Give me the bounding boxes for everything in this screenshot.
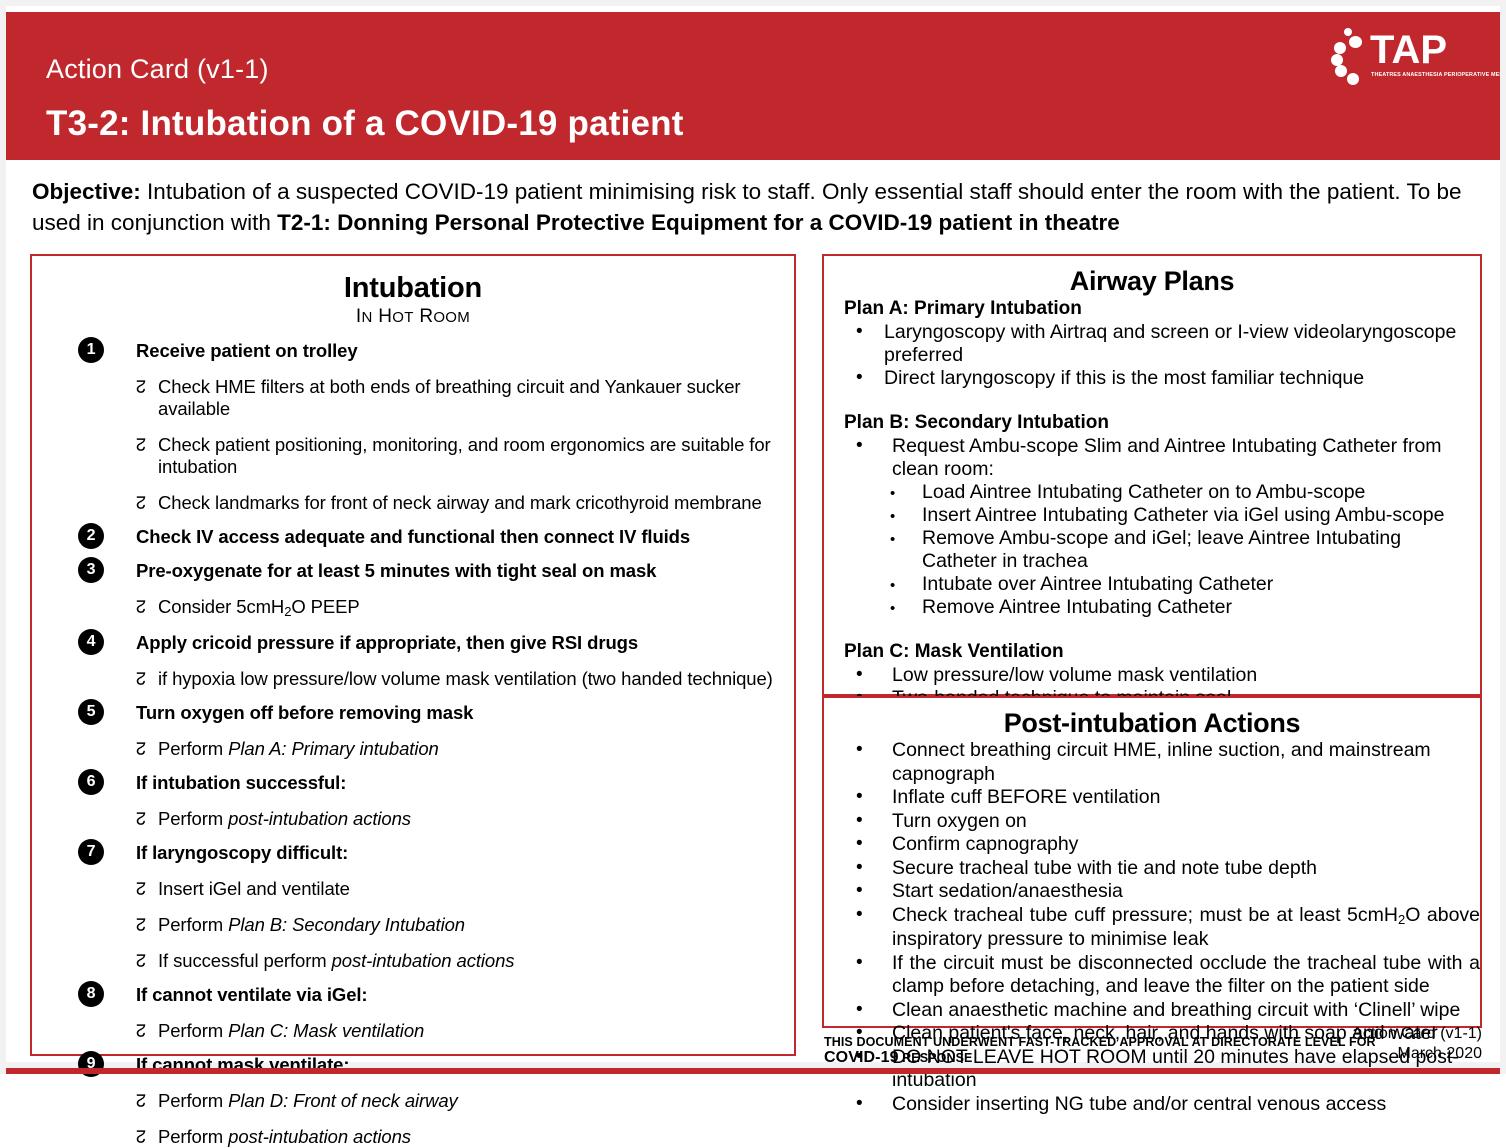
substep-marker-icon: ↊ (136, 434, 146, 456)
airway-plan-item: •Load Aintree Intubating Catheter on to … (844, 481, 1480, 504)
subtitle-smallcap: OOM (433, 309, 470, 326)
subtitle-cap: H (378, 306, 392, 327)
approval-text-suffix: RESPONSE (899, 1051, 973, 1065)
step-number-badge: 2 (78, 523, 104, 549)
substep-text: Perform post-intubation actions (136, 1126, 411, 1148)
airway-plan-heading: Plan B: Secondary Intubation (844, 411, 1480, 435)
intubation-substep: ↊Perform Plan B: Secondary Intubation (32, 914, 794, 936)
bottom-accent-bar (6, 1068, 1500, 1074)
post-intubation-item: •Secure tracheal tube with tie and note … (844, 857, 1480, 881)
intubation-substep: ↊If successful perform post-intubation a… (32, 950, 794, 972)
intubation-substep: ↊Check landmarks for front of neck airwa… (32, 492, 794, 514)
page-title: T3-2: Intubation of a COVID-19 patient (46, 104, 684, 144)
substep-marker-icon: ↊ (136, 1090, 146, 1112)
intubation-step: 4Apply cricoid pressure if appropriate, … (32, 632, 794, 654)
intubation-substep: ↊Consider 5cmH2O PEEP (32, 596, 794, 620)
substep-text: Perform post-intubation actions (136, 808, 411, 830)
intubation-step: 3Pre-oxygenate for at least 5 minutes wi… (32, 560, 794, 582)
tap-logo: TAP THEATRES ANAESTHESIA PERIOPERATIVE M… (1330, 26, 1470, 88)
substep-text: Consider 5cmH2O PEEP (136, 596, 360, 620)
post-intubation-item-text: Confirm capnography (892, 833, 1078, 855)
post-intubation-item-text: Consider inserting NG tube and/or centra… (892, 1093, 1386, 1115)
post-intubation-item: •Start sedation/anaesthesia (844, 880, 1480, 904)
objective-statement: Objective: Intubation of a suspected COV… (32, 176, 1482, 238)
document-sheet: Action Card (v1-1) T3-2: Intubation of a… (6, 6, 1500, 1062)
step-label: If intubation successful: (136, 772, 346, 793)
substep-marker-icon: ↊ (136, 738, 146, 760)
subtitle-smallcap: N (362, 309, 373, 326)
intubation-step: 8If cannot ventilate via iGel: (32, 984, 794, 1006)
substep-text: If successful perform post-intubation ac… (136, 950, 514, 972)
post-intubation-item-text: If the circuit must be disconnected occl… (892, 952, 1480, 999)
step-number-badge: 7 (78, 839, 104, 865)
post-intubation-item: •Connect breathing circuit HME, inline s… (844, 739, 1480, 786)
substep-marker-icon: ↊ (136, 1126, 146, 1148)
header-kicker: Action Card (v1-1) (46, 54, 269, 85)
post-intubation-item: •Check tracheal tube cuff pressure; must… (844, 904, 1480, 952)
step-number-badge: 8 (78, 981, 104, 1007)
bullet-icon: • (890, 574, 895, 597)
substep-text: Perform Plan C: Mask ventilation (136, 1020, 424, 1042)
step-label: Pre-oxygenate for at least 5 minutes wit… (136, 560, 656, 581)
airway-plan-heading: Plan A: Primary Intubation (844, 297, 1480, 321)
bullet-icon: • (890, 528, 895, 551)
post-intubation-item: •Inflate cuff BEFORE ventilation (844, 786, 1480, 810)
tap-logo-dots-icon (1330, 28, 1364, 86)
substep-text: Check patient positioning, monitoring, a… (136, 434, 794, 478)
step-label: Turn oxygen off before removing mask (136, 702, 473, 723)
post-intubation-item-text: Secure tracheal tube with tie and note t… (892, 857, 1317, 879)
bullet-icon: • (856, 320, 863, 343)
intubation-substep: ↊Perform post-intubation actions (32, 808, 794, 830)
intubation-substep: ↊Check patient positioning, monitoring, … (32, 434, 794, 478)
bullet-icon: • (856, 738, 863, 761)
bullet-icon: • (856, 434, 863, 457)
airway-plans-title: Airway Plans (824, 266, 1480, 297)
intubation-panel: Intubation IN HOT ROOM 1Receive patient … (30, 254, 796, 1056)
bullet-icon: • (856, 951, 863, 974)
airway-plan-item: •Low pressure/low volume mask ventilatio… (844, 664, 1480, 687)
airway-plan-item-text: Remove Ambu-scope and iGel; leave Aintre… (922, 527, 1401, 572)
airway-plan-item-text: Low pressure/low volume mask ventilation (892, 664, 1257, 686)
post-intubation-item: •Confirm capnography (844, 833, 1480, 857)
substep-text: Perform Plan D: Front of neck airway (136, 1090, 458, 1112)
substep-text: Insert iGel and ventilate (136, 878, 350, 900)
post-intubation-item-text: Clean anaesthetic machine and breathing … (892, 999, 1460, 1021)
airway-plan-item-text: Direct laryngoscopy if this is the most … (884, 367, 1364, 389)
bullet-icon: • (890, 505, 895, 528)
substep-marker-icon: ↊ (136, 596, 146, 618)
step-number-badge: 4 (78, 629, 104, 655)
tap-logo-tagline: THEATRES ANAESTHESIA PERIOPERATIVE MEDIC… (1371, 72, 1500, 78)
bullet-icon: • (856, 809, 863, 832)
substep-text: Perform Plan B: Secondary Intubation (136, 914, 465, 936)
substep-marker-icon: ↊ (136, 808, 146, 830)
bullet-icon: • (856, 1092, 863, 1115)
airway-plan-items: •Request Ambu-scope Slim and Aintree Int… (824, 435, 1480, 619)
intubation-step: 6If intubation successful: (32, 772, 794, 794)
substep-text: if hypoxia low pressure/low volume mask … (136, 668, 773, 690)
airway-plan-item: •Direct laryngoscopy if this is the most… (844, 367, 1480, 390)
post-intubation-item-text: Check tracheal tube cuff pressure; must … (892, 904, 1480, 952)
subtitle-cap: R (419, 306, 433, 327)
intubation-step: 7If laryngoscopy difficult: (32, 842, 794, 864)
airway-plan-item: •Intubate over Aintree Intubating Cathet… (844, 573, 1480, 596)
airway-plan-items: •Laryngoscopy with Airtraq and screen or… (824, 321, 1480, 390)
intubation-panel-title: Intubation (32, 272, 794, 305)
bullet-icon: • (890, 597, 895, 620)
intubation-step: 1Receive patient on trolley (32, 340, 794, 362)
substep-marker-icon: ↊ (136, 492, 146, 514)
step-number-badge: 5 (78, 699, 104, 725)
post-intubation-item-text: Turn oxygen on (892, 810, 1027, 832)
page-background: Action Card (v1-1) T3-2: Intubation of a… (0, 0, 1506, 1074)
intubation-step: 5Turn oxygen off before removing mask (32, 702, 794, 724)
post-intubation-item: •Clean anaesthetic machine and breathing… (844, 999, 1480, 1023)
intubation-substep: ↊Check HME filters at both ends of breat… (32, 376, 794, 420)
approval-covid-label: COVID-19 (824, 1049, 899, 1066)
substep-text: Perform Plan A: Primary intubation (136, 738, 439, 760)
bullet-icon: • (856, 879, 863, 902)
airway-plan-item-text: Request Ambu-scope Slim and Aintree Intu… (892, 435, 1442, 480)
intubation-substep: ↊Perform Plan A: Primary intubation (32, 738, 794, 760)
airway-plan-item-text: Intubate over Aintree Intubating Cathete… (922, 573, 1273, 595)
intubation-substep: ↊Perform Plan C: Mask ventilation (32, 1020, 794, 1042)
airway-plan-heading: Plan C: Mask Ventilation (844, 640, 1480, 664)
post-intubation-item: •Consider inserting NG tube and/or centr… (844, 1093, 1480, 1117)
substep-marker-icon: ↊ (136, 914, 146, 936)
bullet-icon: • (856, 903, 863, 926)
airway-plan-item: •Insert Aintree Intubating Catheter via … (844, 504, 1480, 527)
step-label: If cannot ventilate via iGel: (136, 984, 368, 1005)
substep-text: Check HME filters at both ends of breath… (136, 376, 794, 420)
step-label: If laryngoscopy difficult: (136, 842, 348, 863)
intubation-substep: ↊Insert iGel and ventilate (32, 878, 794, 900)
post-intubation-title: Post-intubation Actions (824, 708, 1480, 739)
intubation-step: 2Check IV access adequate and functional… (32, 526, 794, 548)
footer-card-info: Action Card (v1-1) March 2020 (1206, 1024, 1482, 1064)
post-intubation-item-text: Connect breathing circuit HME, inline su… (892, 739, 1431, 785)
substep-marker-icon: ↊ (136, 878, 146, 900)
step-number-badge: 3 (78, 557, 104, 583)
intubation-steps-list: 1Receive patient on trolley↊Check HME fi… (32, 340, 794, 1148)
airway-plans-panel: Airway Plans Plan A: Primary Intubation•… (822, 254, 1482, 696)
post-intubation-item-text: Inflate cuff BEFORE ventilation (892, 786, 1160, 808)
step-number-badge: 6 (78, 769, 104, 795)
step-label: Apply cricoid pressure if appropriate, t… (136, 632, 638, 653)
substep-text: Check landmarks for front of neck airway… (136, 492, 762, 514)
post-intubation-item-text: Start sedation/anaesthesia (892, 880, 1123, 902)
bullet-icon: • (856, 856, 863, 879)
subtitle-smallcap: OT (392, 309, 413, 326)
intubation-substep: ↊if hypoxia low pressure/low volume mask… (32, 668, 794, 690)
airway-plan-item-text: Laryngoscopy with Airtraq and screen or … (884, 321, 1456, 366)
airway-plan-item-text: Remove Aintree Intubating Catheter (922, 596, 1232, 618)
intubation-substep: ↊Perform post-intubation actions (32, 1126, 794, 1148)
substep-marker-icon: ↊ (136, 668, 146, 690)
footer-card-version: Action Card (v1-1) (1206, 1024, 1482, 1044)
airway-plan-item: •Remove Ambu-scope and iGel; leave Aintr… (844, 527, 1480, 573)
objective-label: Objective: (32, 179, 141, 204)
substep-marker-icon: ↊ (136, 376, 146, 398)
bullet-icon: • (856, 998, 863, 1021)
bullet-icon: • (890, 482, 895, 505)
bullet-icon: • (856, 785, 863, 808)
tap-logo-wordmark: TAP (1370, 30, 1447, 70)
airway-plan-item: •Laryngoscopy with Airtraq and screen or… (844, 321, 1480, 367)
post-intubation-item: •If the circuit must be disconnected occ… (844, 952, 1480, 999)
post-intubation-panel: Post-intubation Actions •Connect breathi… (822, 696, 1482, 1028)
objective-reference: T2-1: Donning Personal Protective Equipm… (277, 210, 1120, 235)
post-intubation-item: •Turn oxygen on (844, 810, 1480, 834)
substep-marker-icon: ↊ (136, 950, 146, 972)
intubation-substep: ↊Perform Plan D: Front of neck airway (32, 1090, 794, 1112)
airway-plan-item: •Request Ambu-scope Slim and Aintree Int… (844, 435, 1480, 481)
substep-marker-icon: ↊ (136, 1020, 146, 1042)
footer-card-date: March 2020 (1206, 1044, 1482, 1064)
airway-plan-item: •Remove Aintree Intubating Catheter (844, 596, 1480, 619)
bullet-icon: • (856, 366, 863, 389)
airway-plan-item-text: Insert Aintree Intubating Catheter via i… (922, 504, 1444, 526)
intubation-panel-subtitle: IN HOT ROOM (32, 306, 794, 328)
document-header: Action Card (v1-1) T3-2: Intubation of a… (6, 12, 1500, 160)
bullet-icon: • (856, 832, 863, 855)
bullet-icon: • (856, 663, 863, 686)
airway-plan-item-text: Load Aintree Intubating Catheter on to A… (922, 481, 1365, 503)
step-number-badge: 1 (78, 337, 104, 363)
step-label: Receive patient on trolley (136, 340, 358, 361)
step-label: Check IV access adequate and functional … (136, 526, 690, 547)
